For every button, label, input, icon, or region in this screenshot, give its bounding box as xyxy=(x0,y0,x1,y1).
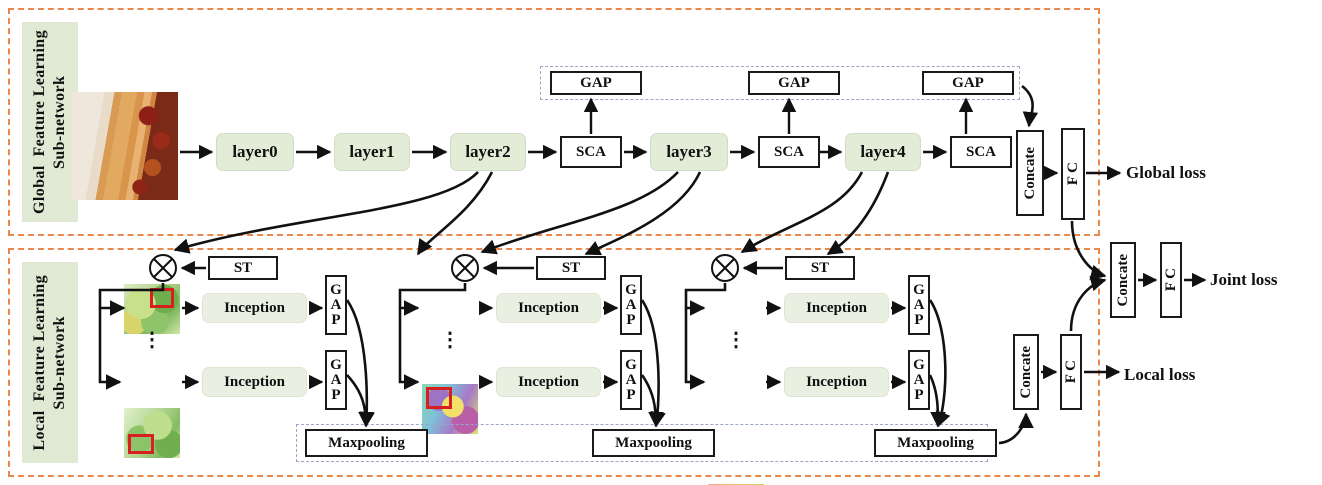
local-fc: F C xyxy=(1060,334,1082,410)
gap-label: GAP xyxy=(778,75,810,92)
branch-0-inception-0: Inception xyxy=(202,293,307,323)
gap-letter: A xyxy=(914,298,925,313)
branch-0-gap-0: G A P xyxy=(325,275,347,335)
branch-2-st: ST xyxy=(785,256,855,280)
sca-module-2: SCA xyxy=(950,136,1012,168)
gap-letter: P xyxy=(914,313,923,328)
gap-letter: G xyxy=(913,283,925,298)
layer-label: layer3 xyxy=(666,142,711,162)
st-label: ST xyxy=(234,260,252,277)
layer-label: layer0 xyxy=(232,142,277,162)
maxpooling-label: Maxpooling xyxy=(615,435,692,452)
branch-2-vertical-dots: ⋮ xyxy=(724,336,748,345)
gap-letter: G xyxy=(625,358,637,373)
concate-label: Concate xyxy=(1018,346,1035,399)
branch-1-inception-0: Inception xyxy=(496,293,601,323)
local-subnetwork-label: Local Feature Learning Sub-network xyxy=(22,262,78,463)
branch-0-heatmap-1 xyxy=(124,408,180,458)
gap-label: GAP xyxy=(580,75,612,92)
backbone-layer4: layer4 xyxy=(845,133,921,171)
backbone-layer3: layer3 xyxy=(650,133,728,171)
gap-label: GAP xyxy=(952,75,984,92)
backbone-layer0: layer0 xyxy=(216,133,294,171)
input-food-image xyxy=(72,92,178,200)
branch-2-gap-0: G A P xyxy=(908,275,930,335)
joint-loss-label: Joint loss xyxy=(1210,270,1278,290)
fc-label: F C xyxy=(1163,268,1180,291)
branch-0-heatmap-0 xyxy=(124,284,180,334)
branch-0-inception-1: Inception xyxy=(202,367,307,397)
st-label: ST xyxy=(562,260,580,277)
global-gap-0: GAP xyxy=(550,71,642,95)
local-loss-label: Local loss xyxy=(1124,365,1195,385)
branch-0-multiply-icon xyxy=(148,253,178,283)
inception-label: Inception xyxy=(224,300,285,317)
gap-letter: A xyxy=(626,373,637,388)
layer-label: layer4 xyxy=(860,142,905,162)
branch-0-gap-1: G A P xyxy=(325,350,347,410)
local-subnetwork-label-text: Local Feature Learning Sub-network xyxy=(30,275,70,451)
global-gap-2: GAP xyxy=(922,71,1014,95)
maxpooling-label: Maxpooling xyxy=(328,435,405,452)
st-label: ST xyxy=(811,260,829,277)
global-subnetwork-label-text: Global Feature Learning Sub-network xyxy=(30,30,70,214)
branch-2-inception-0: Inception xyxy=(784,293,889,323)
gap-letter: P xyxy=(331,388,340,403)
gap-letter: G xyxy=(625,283,637,298)
sca-label: SCA xyxy=(576,144,606,161)
gap-letter: P xyxy=(626,313,635,328)
joint-fc: F C xyxy=(1160,242,1182,318)
global-loss-label: Global loss xyxy=(1126,163,1206,183)
concate-label: Concate xyxy=(1115,254,1132,307)
branch-1-multiply-icon xyxy=(450,253,480,283)
joint-concate: Concate xyxy=(1110,242,1136,318)
sca-label: SCA xyxy=(966,144,996,161)
global-concate: Concate xyxy=(1016,130,1044,216)
branch-0-maxpooling: Maxpooling xyxy=(305,429,428,457)
gap-letter: P xyxy=(914,388,923,403)
sca-label: SCA xyxy=(774,144,804,161)
branch-2-inception-1: Inception xyxy=(784,367,889,397)
layer-label: layer2 xyxy=(465,142,510,162)
fc-label: F C xyxy=(1063,360,1080,383)
inception-label: Inception xyxy=(518,300,579,317)
global-subnetwork-label: Global Feature Learning Sub-network xyxy=(22,22,78,222)
gap-letter: G xyxy=(913,358,925,373)
branch-2-maxpooling: Maxpooling xyxy=(874,429,997,457)
fc-label: F C xyxy=(1065,162,1082,185)
bbox xyxy=(426,387,452,409)
inception-label: Inception xyxy=(806,300,867,317)
architecture-diagram: Global Feature Learning Sub-network Loca… xyxy=(0,0,1322,485)
branch-1-gap-0: G A P xyxy=(620,275,642,335)
branch-2-multiply-icon xyxy=(710,253,740,283)
branch-2-gap-1: G A P xyxy=(908,350,930,410)
gap-letter: G xyxy=(330,283,342,298)
inception-label: Inception xyxy=(224,374,285,391)
layer-label: layer1 xyxy=(349,142,394,162)
branch-0-vertical-dots: ⋮ xyxy=(140,336,164,345)
branch-0-st: ST xyxy=(208,256,278,280)
branch-1-gap-1: G A P xyxy=(620,350,642,410)
branch-1-maxpooling: Maxpooling xyxy=(592,429,715,457)
sca-module-0: SCA xyxy=(560,136,622,168)
gap-letter: P xyxy=(331,313,340,328)
bbox xyxy=(150,288,174,308)
branch-1-vertical-dots: ⋮ xyxy=(438,336,462,345)
local-concate: Concate xyxy=(1013,334,1039,410)
gap-letter: A xyxy=(914,373,925,388)
inception-label: Inception xyxy=(518,374,579,391)
global-fc: F C xyxy=(1061,128,1085,220)
gap-letter: A xyxy=(331,298,342,313)
inception-label: Inception xyxy=(806,374,867,391)
gap-letter: A xyxy=(331,373,342,388)
gap-letter: A xyxy=(626,298,637,313)
gap-letter: G xyxy=(330,358,342,373)
backbone-layer2: layer2 xyxy=(450,133,526,171)
backbone-layer1: layer1 xyxy=(334,133,410,171)
bbox xyxy=(128,434,154,454)
branch-1-inception-1: Inception xyxy=(496,367,601,397)
maxpooling-label: Maxpooling xyxy=(897,435,974,452)
global-gap-1: GAP xyxy=(748,71,840,95)
concate-label: Concate xyxy=(1022,147,1039,200)
branch-1-st: ST xyxy=(536,256,606,280)
sca-module-1: SCA xyxy=(758,136,820,168)
gap-letter: P xyxy=(626,388,635,403)
